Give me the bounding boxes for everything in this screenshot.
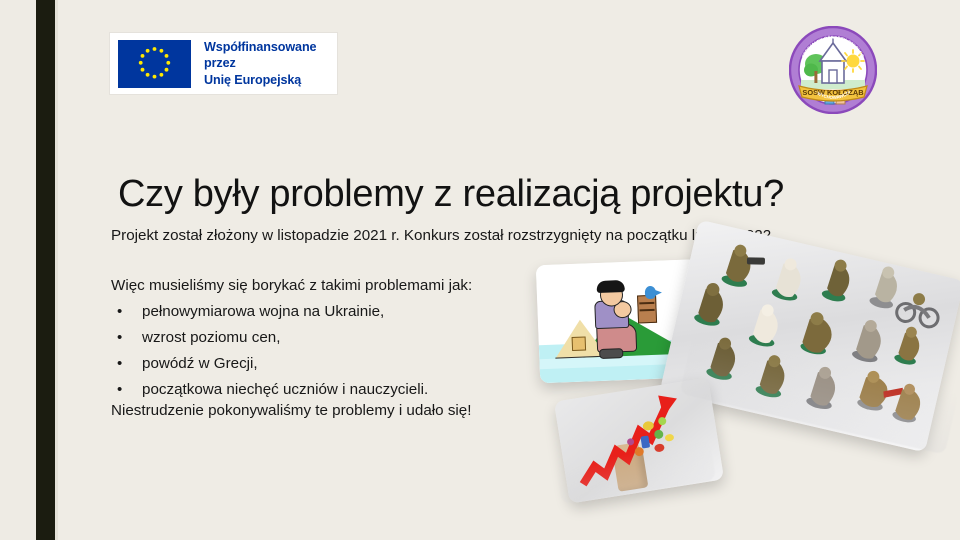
eu-logo-line-1: Współfinansowane przez xyxy=(204,39,337,72)
list-item: • pełnowymiarowa wojna na Ukrainie, xyxy=(111,299,541,325)
price-increase-arrow-icon xyxy=(554,377,724,503)
accent-stripe-edge xyxy=(55,0,58,540)
bullet-icon: • xyxy=(117,325,122,351)
man-shoe xyxy=(599,348,623,359)
list-item-label: powódź w Grecji, xyxy=(142,355,258,372)
list-item-label: początkowa niechęć uczniów i nauczycieli… xyxy=(142,381,428,398)
roof-window xyxy=(572,337,587,352)
bullet-icon: • xyxy=(117,299,122,325)
school-logo: SOSW KOŁOZĄB SPECJALNY OŚRODEK SZKOLNO -… xyxy=(789,26,877,114)
problems-lead-in: Więc musieliśmy się borykać z takimi pro… xyxy=(111,275,541,296)
closing-paragraph: Niestrudzenie pokonywaliśmy te problemy … xyxy=(111,400,581,421)
eu-logo-line-2: Unię Europejską xyxy=(204,72,337,89)
eu-stars-icon xyxy=(118,40,191,88)
bullet-icon: • xyxy=(117,351,122,377)
problems-block: Więc musieliśmy się borykać z takimi pro… xyxy=(111,275,541,403)
list-item: • powódź w Grecji, xyxy=(111,351,541,377)
slide-title: Czy były problemy z realizacją projektu? xyxy=(118,171,908,217)
eu-flag-icon xyxy=(118,40,191,88)
goods-item xyxy=(640,435,650,448)
eu-cofunding-logo: Współfinansowane przez Unię Europejską xyxy=(110,33,337,94)
left-margin-band xyxy=(0,0,36,540)
rising-prices-image xyxy=(554,377,724,503)
sosw-kolozab-emblem-icon: SOSW KOŁOZĄB SPECJALNY OŚRODEK SZKOLNO -… xyxy=(789,26,877,114)
rising-prices-art xyxy=(554,377,724,503)
problems-list: • pełnowymiarowa wojna na Ukrainie, • wz… xyxy=(111,299,541,403)
man-hair xyxy=(596,280,624,293)
slide-canvas: Współfinansowane przez Unię Europejską xyxy=(0,0,960,540)
list-item: • wzrost poziomu cen, xyxy=(111,325,541,351)
list-item-label: wzrost poziomu cen, xyxy=(142,329,280,346)
bird-icon xyxy=(645,286,656,299)
chimney xyxy=(637,295,657,324)
eu-logo-text: Współfinansowane przez Unię Europejską xyxy=(204,39,337,89)
accent-stripe xyxy=(36,0,55,540)
list-item-label: pełnowymiarowa wojna na Ukrainie, xyxy=(142,303,384,320)
